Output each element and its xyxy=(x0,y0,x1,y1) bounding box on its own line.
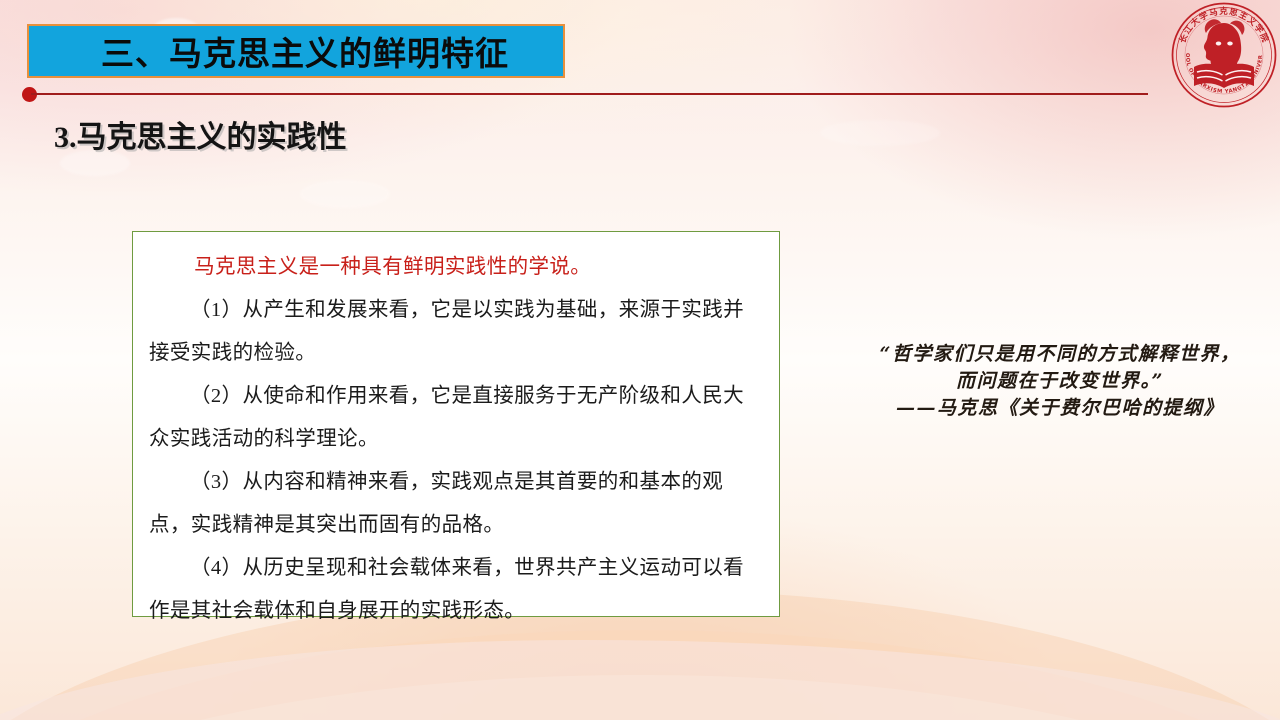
page-title: 三、马克思主义的鲜明特征 xyxy=(29,27,563,75)
background-wave-2 xyxy=(0,630,1280,720)
content-paragraph-4: （4）从历史呈现和社会载体来看，世界共产主义运动可以看作是其社会载体和自身展开的… xyxy=(149,547,763,633)
background-wave-3 xyxy=(0,675,1280,720)
subsection-heading: 3.马克思主义的实践性 xyxy=(54,112,347,156)
marx-quote-block: “哲学家们只是用不同的方式解释世界，而问题在于改变世界。” ——马克思《关于费尔… xyxy=(875,341,1245,422)
university-emblem: 长江大学马克思主义学院 SCHOOL OF MARXISM YANGTZE UN… xyxy=(1171,2,1277,108)
quote-body: “哲学家们只是用不同的方式解释世界，而问题在于改变世界。” xyxy=(875,341,1245,395)
content-lead-sentence: 马克思主义是一种具有鲜明实践性的学说。 xyxy=(149,246,763,289)
divider-rule xyxy=(31,93,1148,95)
section-title-banner: 三、马克思主义的鲜明特征 xyxy=(27,24,565,78)
background-wave-4 xyxy=(0,640,1280,720)
content-paragraph-3: （3）从内容和精神来看，实践观点是其首要的和基本的观点，实践精神是其突出而固有的… xyxy=(149,461,763,547)
quote-attribution: ——马克思《关于费尔巴哈的提纲》 xyxy=(875,395,1245,422)
background-bokeh-4 xyxy=(300,180,390,208)
content-paragraph-2: （2）从使命和作用来看，它是直接服务于无产阶级和人民大众实践活动的科学理论。 xyxy=(149,375,763,461)
slide-canvas: 三、马克思主义的鲜明特征 3.马克思主义的实践性 马克思主义是一种具有鲜明实践性… xyxy=(0,0,1280,720)
background-bokeh-5 xyxy=(820,120,940,146)
content-text-box: 马克思主义是一种具有鲜明实践性的学说。 （1）从产生和发展来看，它是以实践为基础… xyxy=(132,231,780,617)
content-paragraph-1: （1）从产生和发展来看，它是以实践为基础，来源于实践并接受实践的检验。 xyxy=(149,289,763,375)
